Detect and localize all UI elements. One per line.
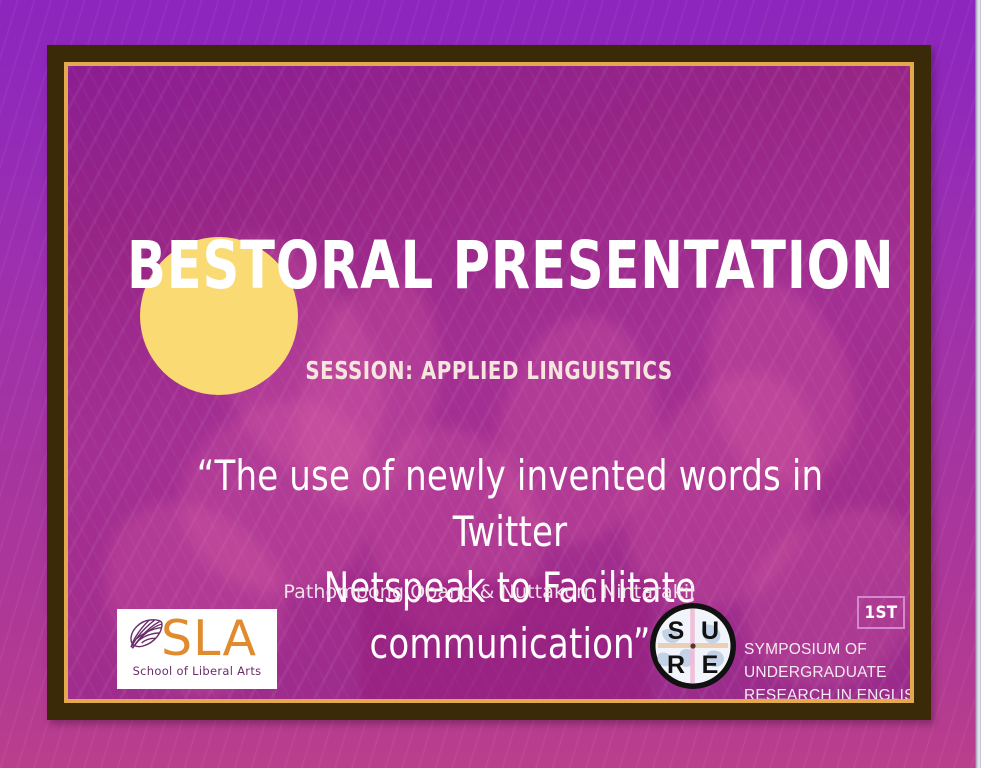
certificate-card: BESTORAL PRESENTATION SESSION: APPLIED L…: [47, 45, 931, 720]
session-label: SESSION: APPLIED LINGUISTICS: [119, 356, 860, 385]
certificate-stage: BESTORAL PRESENTATION SESSION: APPLIED L…: [0, 0, 981, 768]
symposium-name-line-3: RESEARCH IN ENGLISH: [744, 684, 910, 699]
right-edge-strip: [975, 0, 981, 768]
symposium-name: SYMPOSIUM OF UNDERGRADUATE RESEARCH IN E…: [744, 638, 910, 699]
sla-letters: SLA: [141, 611, 277, 667]
presentation-title-line-1: “The use of newly invented words in Twit…: [193, 448, 827, 560]
sure-letter-r: R: [667, 651, 685, 679]
first-edition-badge: 1ST: [857, 596, 905, 629]
award-prefix: BEST: [127, 227, 276, 304]
sure-letter-s: S: [668, 617, 685, 645]
sure-logo: S U R E: [648, 601, 738, 691]
symposium-name-line-2: UNDERGRADUATE: [744, 661, 910, 684]
sure-letter-e: E: [702, 651, 719, 679]
symposium-name-line-1: SYMPOSIUM OF: [744, 638, 910, 661]
card-surface: BESTORAL PRESENTATION SESSION: APPLIED L…: [68, 66, 910, 699]
sure-letter-u: U: [701, 617, 719, 645]
sla-logo: SLA School of Liberal Arts: [117, 609, 277, 689]
headline-row: BESTORAL PRESENTATION: [68, 174, 910, 334]
sla-tagline: School of Liberal Arts: [117, 664, 277, 678]
page-title: BESTORAL PRESENTATION: [127, 229, 851, 303]
first-edition-badge-label: 1ST: [865, 603, 898, 623]
symposium-block: 1ST SYMPOSIUM OF UNDERGRADUATE RESEARCH …: [744, 601, 910, 699]
authors-label: Pathompong Opang & Nuttakorn Nintarakij: [68, 581, 910, 603]
certificate-content: BESTORAL PRESENTATION SESSION: APPLIED L…: [68, 66, 910, 699]
award-title: ORAL PRESENTATION: [276, 227, 895, 304]
